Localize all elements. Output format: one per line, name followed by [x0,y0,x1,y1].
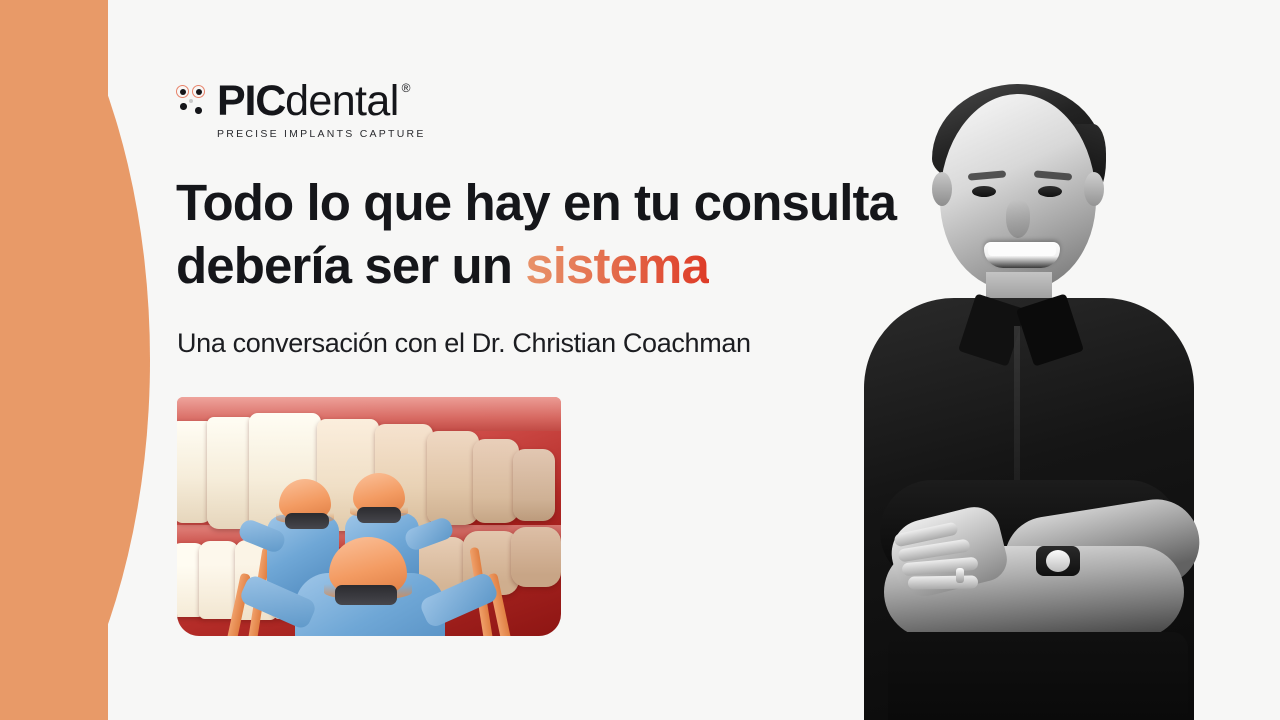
portrait-wristwatch [1036,546,1080,576]
portrait-ear-right [1084,172,1104,206]
portrait-finger [908,575,978,589]
logo-wordmark: PIC dental ® [217,80,411,123]
logo-dot-lower-right [195,107,202,114]
logo-dot-lower-left [180,103,187,110]
portrait-lower-torso [888,632,1188,720]
portrait-ear-left [932,172,952,206]
logo-row: PIC dental ® [176,80,426,123]
headline-line-2-prefix: debería ser un [176,237,525,294]
headline-accent-word: sistema [525,237,709,294]
logo-small-dot-center [189,99,193,103]
worker-face-mask [357,507,401,523]
doctor-portrait-image [808,76,1228,720]
portrait-smile [984,242,1060,268]
worker-face-mask [285,513,329,529]
portrait-nose [1006,200,1030,238]
worker-face-mask [335,585,397,605]
construction-workers-group [177,397,561,636]
pic-dental-dots-mark-icon [176,83,210,117]
logo-tagline: PRECISE IMPLANTS CAPTURE [217,128,426,140]
logo-ring-dot-right [192,85,205,98]
pic-dental-logo: PIC dental ® PRECISE IMPLANTS CAPTURE [176,80,426,140]
logo-word-dental: dental [285,80,399,123]
portrait-ring [956,568,964,583]
slide-content: PIC dental ® PRECISE IMPLANTS CAPTURE To… [0,0,1280,720]
portrait-eye-left [972,186,996,197]
slide-stage: PIC dental ® PRECISE IMPLANTS CAPTURE To… [0,0,1280,720]
registered-trademark-icon: ® [402,82,411,94]
logo-ring-dot-left [176,85,189,98]
subtitle: Una conversación con el Dr. Christian Co… [177,328,751,359]
headline-line-1: Todo lo que hay en tu consulta [176,174,896,231]
logo-word-pic: PIC [217,80,285,123]
portrait-eye-right [1038,186,1062,197]
teeth-and-workers-composite-image [177,397,561,636]
